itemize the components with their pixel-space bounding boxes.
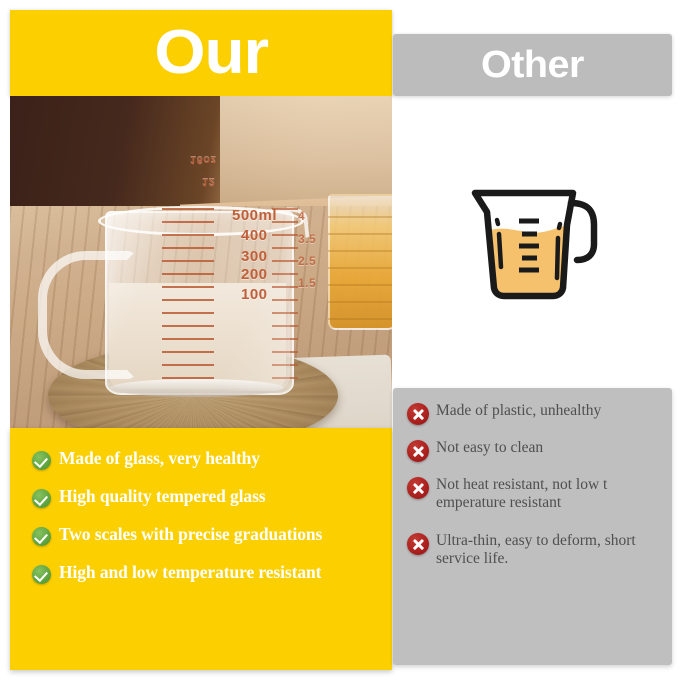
list-item: Not easy to clean [407, 439, 662, 462]
feature-label: Two scales with precise graduations [59, 524, 322, 545]
list-item: Made of glass, very healthy [10, 448, 392, 470]
list-item: High and low temperature resistant [10, 562, 392, 584]
our-header-title: Our [134, 22, 269, 84]
other-header-title: Other [481, 46, 584, 84]
our-header-banner: Our [10, 10, 392, 96]
other-drawbacks-list: Made of plastic, unhealthy Not easy to c… [393, 388, 672, 665]
check-circle-icon [32, 489, 51, 508]
check-circle-icon [32, 565, 51, 584]
photo-oz-ticks [272, 208, 298, 388]
check-circle-icon [32, 527, 51, 546]
check-circle-icon [32, 451, 51, 470]
list-item: High quality tempered glass [10, 486, 392, 508]
list-item: Ultra-thin, easy to deform, short servic… [407, 532, 662, 568]
list-item: Made of plastic, unhealthy [407, 402, 662, 425]
x-circle-icon [407, 477, 429, 499]
our-features-list: Made of glass, very healthy High quality… [10, 428, 392, 670]
photo-ml-label-400: 400 [241, 227, 268, 244]
feature-label: Made of glass, very healthy [59, 448, 260, 469]
measuring-cup-icon [463, 172, 608, 317]
photo-oz-label-3point5: 3.5 [298, 232, 316, 246]
drawback-label: Not heat resistant, not low t emperature… [436, 476, 662, 512]
photo-measuring-cup-handle [38, 251, 136, 379]
photo-ml-label-200: 200 [241, 266, 268, 283]
drawback-label: Not easy to clean [436, 439, 543, 457]
photo-oz-label-16oz: 16oz [190, 154, 216, 166]
photo-oz-label-12: 12 [202, 176, 215, 188]
comparison-infographic: Our 500ml 400 300 200 100 16oz 12 4 3.5 … [0, 0, 680, 680]
photo-ml-label-100: 100 [241, 286, 268, 303]
feature-label: High and low temperature resistant [59, 562, 321, 583]
photo-oz-label-1point5: 1.5 [298, 276, 316, 290]
photo-juice-glass-markings [328, 216, 392, 326]
photo-ml-label-500: 500ml [232, 207, 277, 224]
drawback-label: Ultra-thin, easy to deform, short servic… [436, 532, 662, 568]
our-product-photo: 500ml 400 300 200 100 16oz 12 4 3.5 2.5 … [10, 96, 392, 429]
list-item: Not heat resistant, not low t emperature… [407, 476, 662, 512]
photo-ml-ticks [162, 208, 214, 388]
photo-ml-label-300: 300 [241, 248, 268, 265]
x-circle-icon [407, 403, 429, 425]
other-header-banner: Other [393, 34, 672, 96]
feature-label: High quality tempered glass [59, 486, 266, 507]
drawback-label: Made of plastic, unhealthy [436, 402, 601, 420]
list-item: Two scales with precise graduations [10, 524, 392, 546]
x-circle-icon [407, 533, 429, 555]
photo-oz-label-4: 4 [298, 209, 305, 223]
photo-oz-label-2point5: 2.5 [298, 254, 316, 268]
x-circle-icon [407, 440, 429, 462]
